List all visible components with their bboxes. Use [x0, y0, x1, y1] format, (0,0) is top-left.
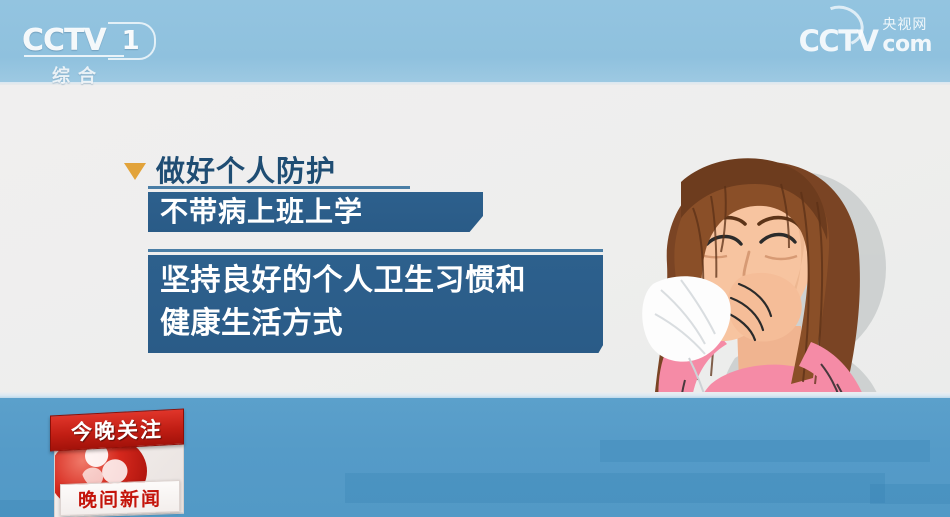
point-1-box: 不带病上班上学: [148, 192, 483, 232]
decor-bar-1: [600, 440, 930, 462]
program-label-banner: 晚间新闻: [60, 480, 180, 516]
point-1-text: 不带病上班上学: [160, 198, 363, 226]
slide-headline: 做好个人防护: [124, 148, 336, 190]
cctv-com-brand: CCTV: [799, 27, 878, 56]
decor-bar-2: [345, 473, 885, 503]
point-2-text-line-1: 坚持良好的个人卫生习惯和: [160, 260, 526, 303]
program-label-text: 晚间新闻: [78, 484, 162, 512]
cctv1-logo-subtitle: 综合: [52, 62, 104, 88]
cctv1-logo-underline: [24, 55, 124, 57]
point-1-rule: [148, 186, 410, 189]
decor-bar-4: [870, 484, 950, 504]
point-2-text-line-2: 健康生活方式: [160, 303, 343, 346]
point-2-rule: [148, 249, 603, 252]
cctv1-logo-text: CCTV: [22, 26, 106, 56]
triangle-down-icon: [124, 163, 146, 180]
cctv-com-cn-label: 央视网: [882, 18, 927, 32]
point-2-box: 坚持良好的个人卫生习惯和 健康生活方式: [148, 255, 603, 353]
cctv-com-domain: com: [882, 34, 932, 56]
cctv-com-watermark: CCTV 央视网 com: [799, 18, 932, 56]
lower-third-news-bug: 今晚关注 晚间新闻: [38, 404, 193, 517]
segment-label-text: 今晚关注: [71, 413, 163, 446]
segment-label-banner: 今晚关注: [50, 408, 184, 451]
slide-headline-text: 做好个人防护: [156, 148, 336, 190]
broadcast-screenshot: CCTV 1 综合 CCTV 央视网 com 做好个人防护 不带病上班上学 坚持…: [0, 0, 950, 517]
